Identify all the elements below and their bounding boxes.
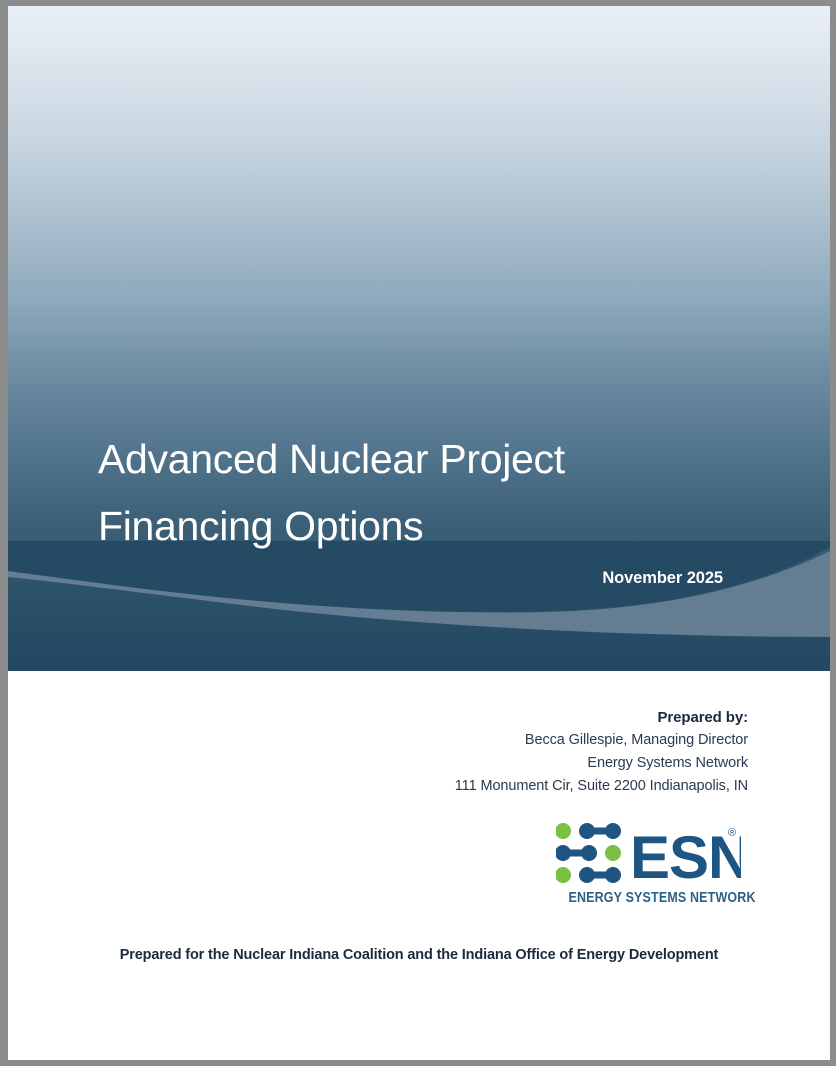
prepared-for-note: Prepared for the Nuclear Indiana Coaliti… [8,947,830,963]
esn-network-nodes-logo: ESN ® [556,822,741,888]
esn-wordmark: ESN [630,824,741,888]
page-frame: Advanced Nuclear Project Financing Optio… [0,0,836,1066]
document-date: November 2025 [98,569,723,588]
prepared-by-address: 111 Monument Cir, Suite 2200 Indianapoli… [455,775,748,798]
prepared-by-organization: Energy Systems Network [455,752,748,775]
registered-trademark-icon: ® [728,827,736,839]
prepared-by-author: Becca Gillespie, Managing Director [455,729,748,752]
document-page: Advanced Nuclear Project Financing Optio… [8,6,830,1060]
title-line-2: Financing Options [98,493,738,560]
esn-logo: ESN ® ENERGY SYSTEMS NETWORK [556,820,741,910]
esn-tagline: ENERGY SYSTEMS NETWORK [568,890,721,906]
title-line-1: Advanced Nuclear Project [98,426,738,493]
prepared-by-block: Prepared by: Becca Gillespie, Managing D… [455,706,748,798]
cover-hero: Advanced Nuclear Project Financing Optio… [8,6,830,671]
prepared-by-label: Prepared by: [455,706,748,729]
hero-wave-decoration [8,541,830,671]
document-title: Advanced Nuclear Project Financing Optio… [98,426,738,560]
